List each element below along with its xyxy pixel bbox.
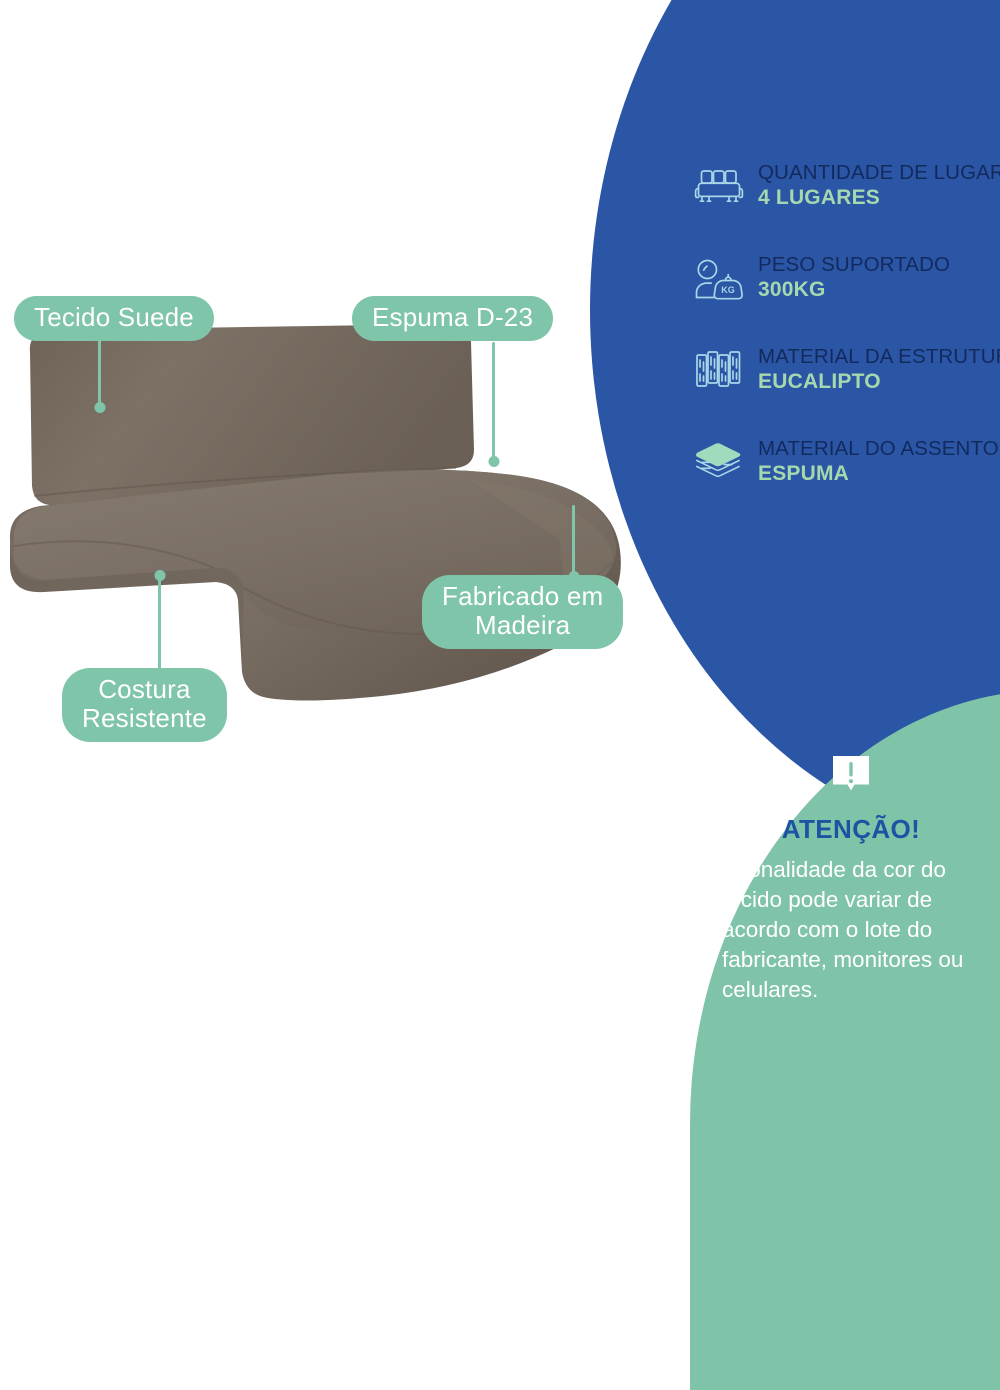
- spec-value: ESPUMA: [758, 461, 999, 486]
- spec-text-material-estrutura: MATERIAL DA ESTRUTURA EUCALIPTO: [758, 344, 1000, 394]
- spec-text-material-assento: MATERIAL DO ASSENTO ESPUMA: [758, 436, 999, 486]
- spec-row-peso-suportado: KG PESO SUPORTADO 300KG: [694, 252, 1000, 306]
- spec-value: EUCALIPTO: [758, 369, 1000, 394]
- connector-espuma-d23: [492, 342, 495, 462]
- foam-layers-icon: [694, 436, 744, 480]
- svg-text:KG: KG: [721, 285, 735, 295]
- spec-value: 300KG: [758, 277, 950, 302]
- spec-label: QUANTIDADE DE LUGARES: [758, 162, 1000, 185]
- connector-fabricado-madeira: [572, 505, 575, 577]
- spec-row-quantidade-lugares: QUANTIDADE DE LUGARES 4 LUGARES: [694, 160, 1000, 214]
- infographic-canvas: Tecido Suede Espuma D-23 Fabricado em Ma…: [0, 0, 1000, 1000]
- callout-tecido-suede[interactable]: Tecido Suede: [14, 296, 214, 341]
- spec-label: PESO SUPORTADO: [758, 254, 950, 277]
- connector-costura-resistente: [158, 575, 161, 671]
- attention-block: ATENÇÃO! A tonalidade da cor do tecido p…: [706, 750, 996, 1005]
- spec-row-material-estrutura: MATERIAL DA ESTRUTURA EUCALIPTO: [694, 344, 1000, 398]
- spec-text-quantidade-lugares: QUANTIDADE DE LUGARES 4 LUGARES: [758, 160, 1000, 210]
- callout-costura-resistente[interactable]: Costura Resistente: [62, 668, 227, 742]
- connector-tecido-suede: [98, 340, 101, 408]
- spec-text-peso-suportado: PESO SUPORTADO 300KG: [758, 252, 950, 302]
- spec-list: QUANTIDADE DE LUGARES 4 LUGARES KG: [694, 160, 1000, 528]
- spec-value: 4 LUGARES: [758, 185, 1000, 210]
- spec-label: MATERIAL DA ESTRUTURA: [758, 346, 1000, 369]
- person-weight-kg-icon: KG: [694, 252, 744, 302]
- wood-planks-icon: [694, 344, 744, 394]
- attention-title: ATENÇÃO!: [706, 814, 996, 845]
- exclamation-bubble-icon: [706, 750, 996, 798]
- sofa-icon: [694, 160, 744, 208]
- callout-espuma-d23[interactable]: Espuma D-23: [352, 296, 553, 341]
- attention-body: A tonalidade da cor do tecido pode varia…: [706, 855, 996, 1005]
- spec-row-material-assento: MATERIAL DO ASSENTO ESPUMA: [694, 436, 1000, 490]
- callout-fabricado-madeira[interactable]: Fabricado em Madeira: [422, 575, 623, 649]
- spec-label: MATERIAL DO ASSENTO: [758, 438, 999, 461]
